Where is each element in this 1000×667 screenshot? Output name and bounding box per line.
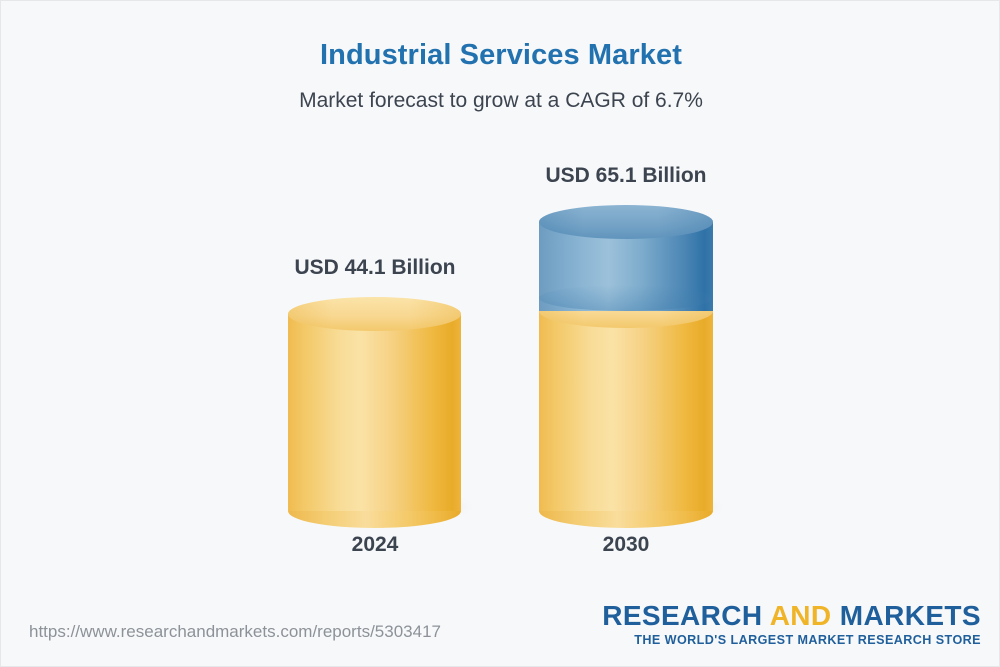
cylinder-top-shading [539, 205, 713, 239]
bar-value-label-2030: USD 65.1 Billion [535, 164, 717, 188]
chart-title: Industrial Services Market [1, 39, 1000, 72]
bar-value-label-2024: USD 44.1 Billion [284, 256, 466, 280]
logo-word-markets: MARKETS [840, 600, 981, 631]
bar-cylinder-2030[interactable] [539, 205, 713, 511]
report-url[interactable]: https://www.researchandmarkets.com/repor… [29, 622, 441, 642]
cylinder-body-gold [539, 311, 713, 511]
cylinder-top-shading [288, 297, 461, 331]
logo-word-research: RESEARCH [602, 600, 762, 631]
cylinder-body-gold [288, 314, 461, 511]
bar-cylinder-2024[interactable] [288, 297, 461, 511]
research-and-markets-logo[interactable]: RESEARCH AND MARKETS THE WORLD'S LARGEST… [602, 601, 981, 647]
x-axis-label-2024: 2024 [284, 533, 466, 557]
x-axis-label-2030: 2030 [535, 533, 717, 557]
logo-word-and: AND [770, 600, 832, 631]
chart-canvas: Industrial Services Market Market foreca… [0, 0, 1000, 667]
logo-tagline: THE WORLD'S LARGEST MARKET RESEARCH STOR… [602, 633, 981, 647]
logo-wordmark: RESEARCH AND MARKETS [602, 601, 981, 630]
chart-subtitle: Market forecast to grow at a CAGR of 6.7… [1, 89, 1000, 113]
cylinder-blue-bottom-edge [539, 285, 713, 311]
